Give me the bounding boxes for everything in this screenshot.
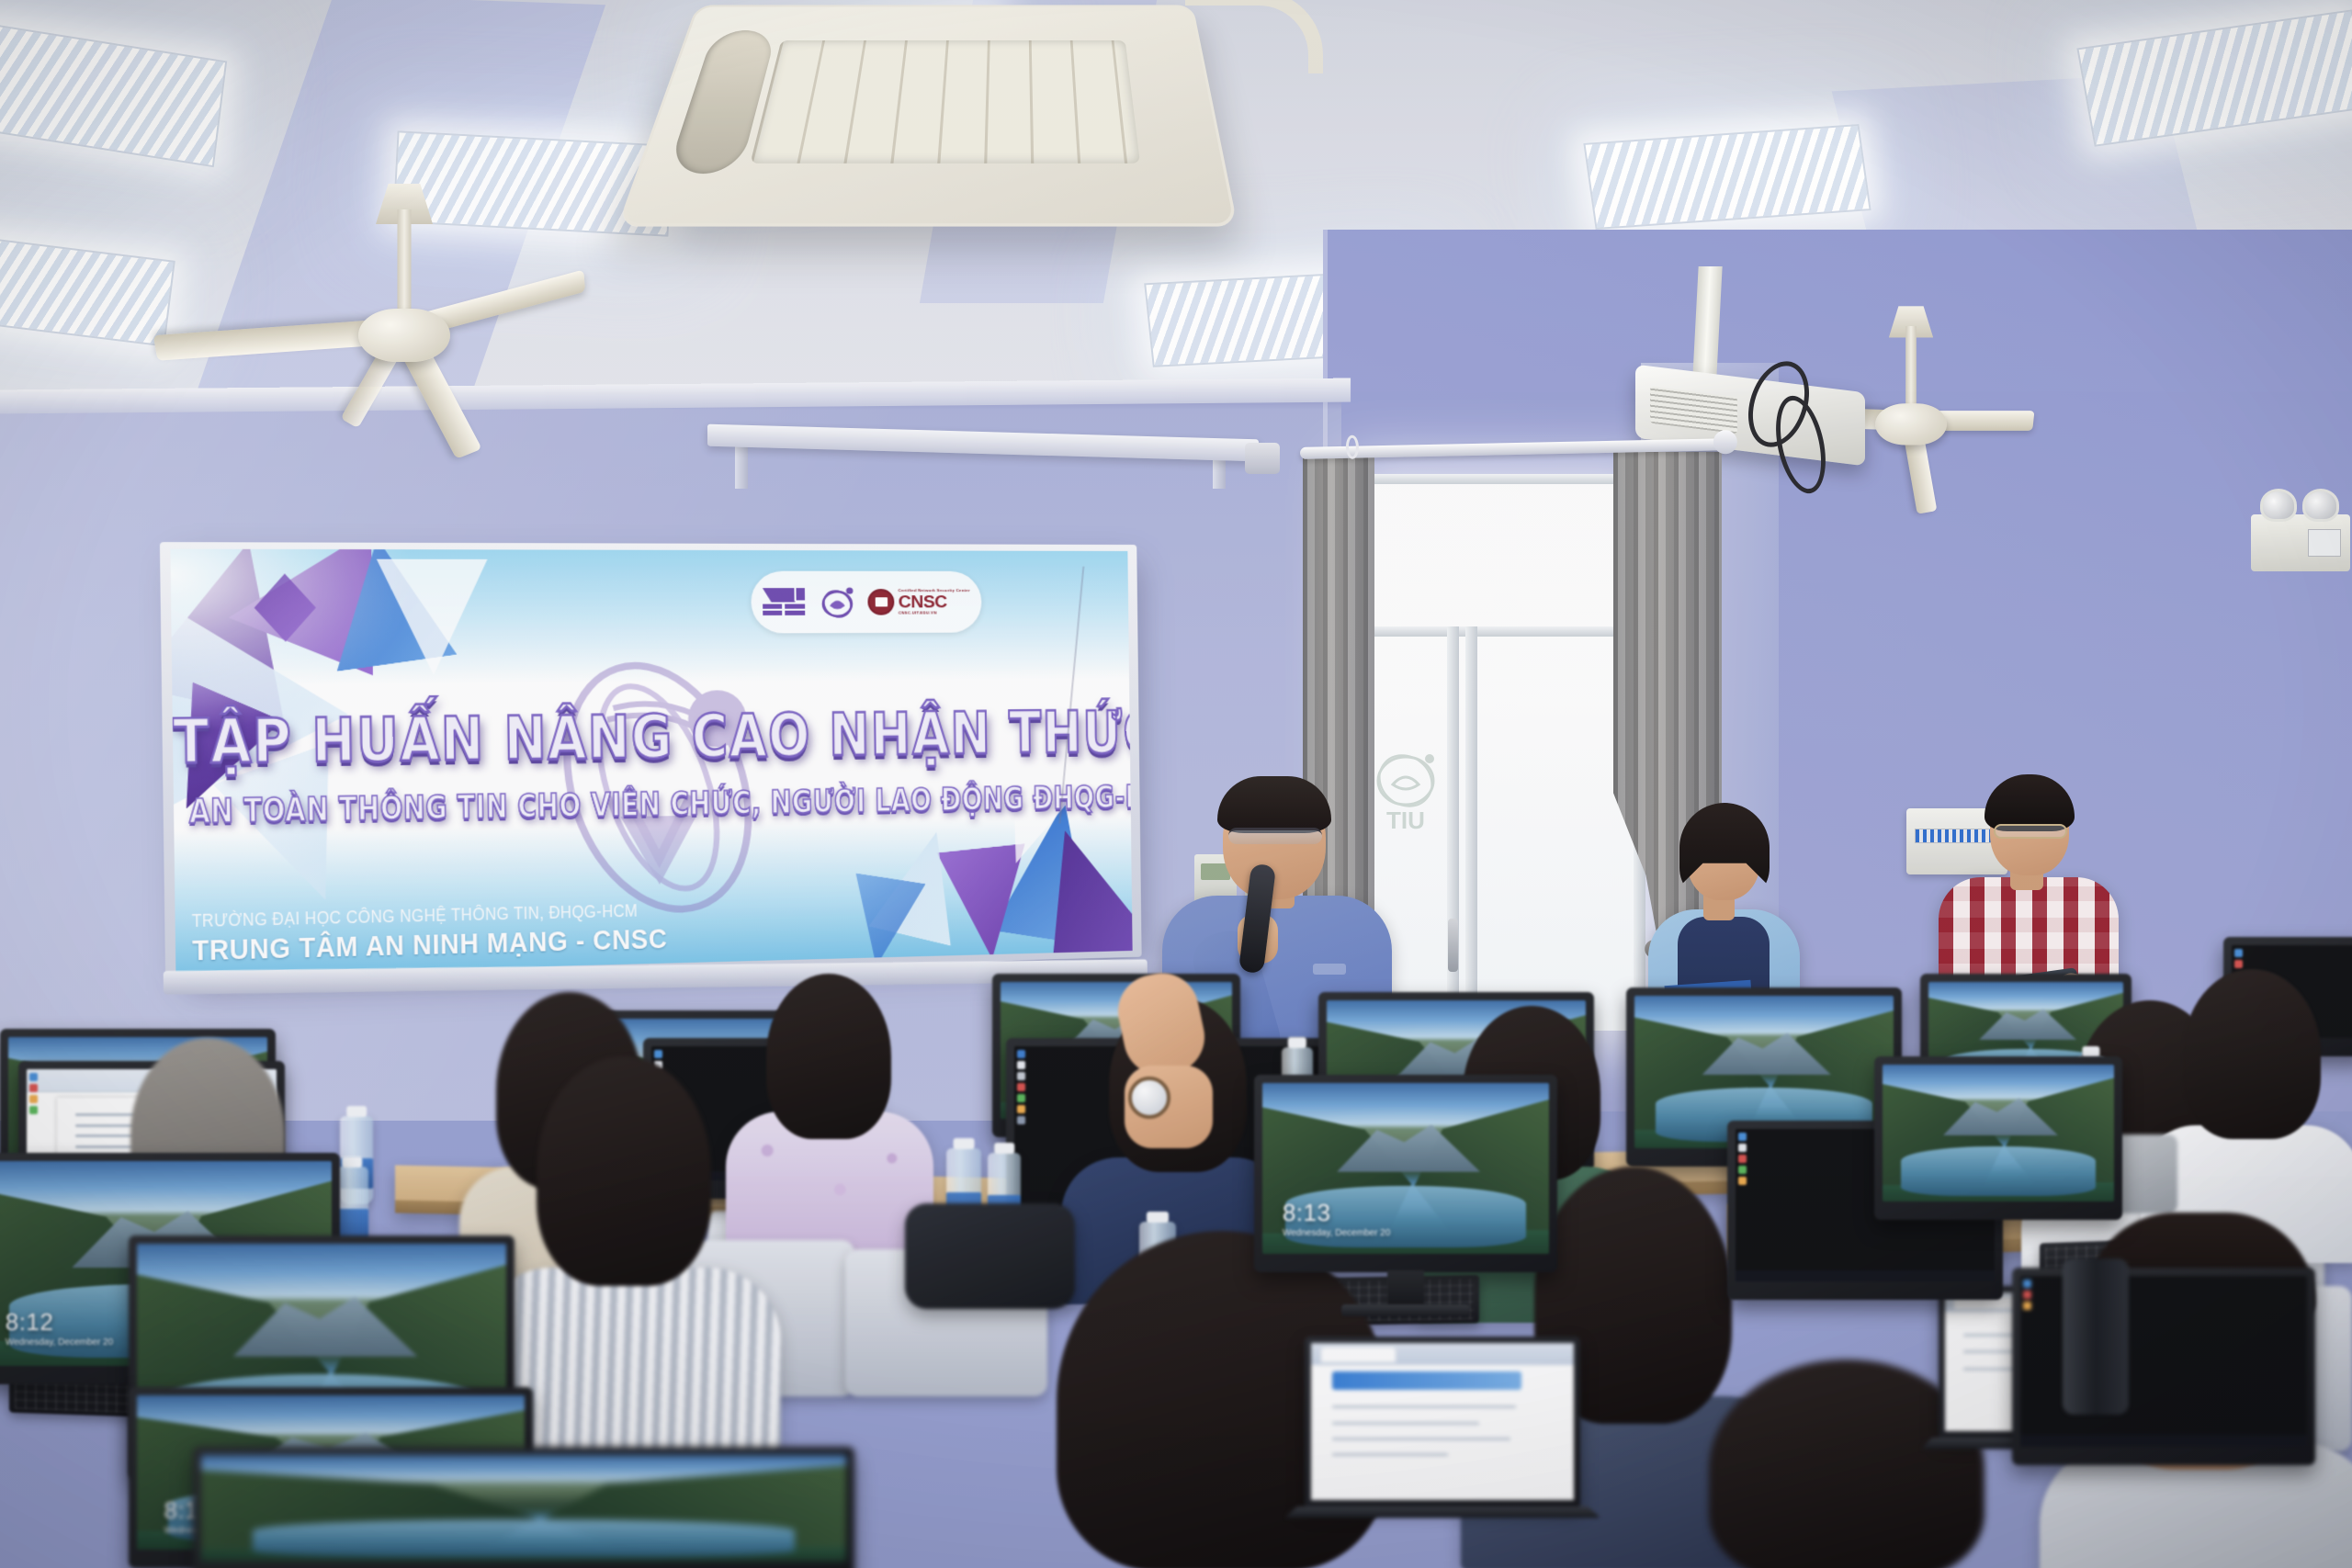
lockscreen-clock: 8:12 Wednesday, December 20	[6, 1310, 113, 1348]
photo-scene: Certified Network Security Center CNSC C…	[0, 0, 2352, 1568]
emergency-lamp-head	[2260, 489, 2297, 522]
monitor-front-813: 8:13 Wednesday, December 20	[1254, 1075, 1557, 1272]
banner-headline: TẬP HUẤN NÂNG CAO NHẬN THỨC	[173, 700, 1131, 779]
ceiling-light-fixture	[1583, 124, 1871, 230]
ac-pipe	[1185, 0, 1323, 73]
speaker-glasses	[1228, 828, 1322, 844]
ceiling-light-fixture	[0, 22, 227, 167]
speaker-hair	[1217, 776, 1331, 833]
door-frame-stile	[1465, 626, 1477, 1032]
cnsc-wordmark: CNSC	[899, 593, 971, 611]
banner-title-block: TẬP HUẤN NÂNG CAO NHẬN THỨC AN TOÀN THÔN…	[173, 705, 1131, 828]
plaid-glasses	[1994, 824, 2067, 839]
ac-grille	[750, 40, 1140, 164]
attendee-head	[537, 1056, 711, 1286]
person-hands-clasped	[1112, 964, 1240, 1148]
banner-face: Certified Network Security Center CNSC C…	[170, 549, 1132, 976]
travel-flask[interactable]	[2063, 1258, 2129, 1415]
wall-speaker	[1245, 443, 1280, 474]
ceiling-light-fixture	[0, 237, 175, 347]
ceiling-light-fixture	[2076, 9, 2352, 146]
lockscreen-clock: 8:13 Wednesday, December 20	[1283, 1201, 1390, 1238]
fan-motor	[358, 309, 450, 362]
uit-logo-icon	[763, 586, 807, 618]
ceiling-air-conditioner	[617, 5, 1238, 226]
vnuhcm-logo-icon	[820, 585, 856, 619]
emergency-light	[2251, 514, 2350, 571]
attendee-hair-long	[766, 974, 891, 1139]
event-banner: Certified Network Security Center CNSC C…	[170, 549, 1132, 976]
door-frame-rail	[1358, 474, 1645, 484]
fan-motor	[1875, 403, 1947, 445]
monitor-bottom-foreground	[193, 1447, 854, 1568]
attendee-head	[2183, 969, 2321, 1139]
fan-rod	[1905, 326, 1917, 412]
emergency-light-switch[interactable]	[2308, 529, 2341, 557]
person-front-striped	[478, 1056, 781, 1442]
speaker-pocket	[1313, 964, 1346, 975]
emergency-lamp-head	[2302, 489, 2339, 522]
door-handle[interactable]	[1448, 919, 1458, 972]
cnsc-url: CNSC.UIT.EDU.VN	[899, 611, 970, 615]
laptop-front-center[interactable]	[1305, 1337, 1580, 1506]
curtain-ring	[1346, 435, 1360, 459]
monitor-right-lock	[1874, 1056, 2122, 1220]
plaid-hair	[1984, 774, 2075, 831]
monitor-right-front	[2012, 1268, 2315, 1465]
banner-logo-strip: Certified Network Security Center CNSC C…	[751, 571, 982, 634]
projector-vent	[1650, 387, 1737, 434]
cnsc-logo-icon: Certified Network Security Center CNSC C…	[868, 589, 971, 615]
fan-rod	[398, 209, 412, 320]
cnsc-shield-icon	[868, 589, 895, 615]
wristwatch	[1128, 1077, 1170, 1119]
door-frame-rail	[1358, 626, 1645, 637]
rail-bracket	[735, 446, 748, 489]
